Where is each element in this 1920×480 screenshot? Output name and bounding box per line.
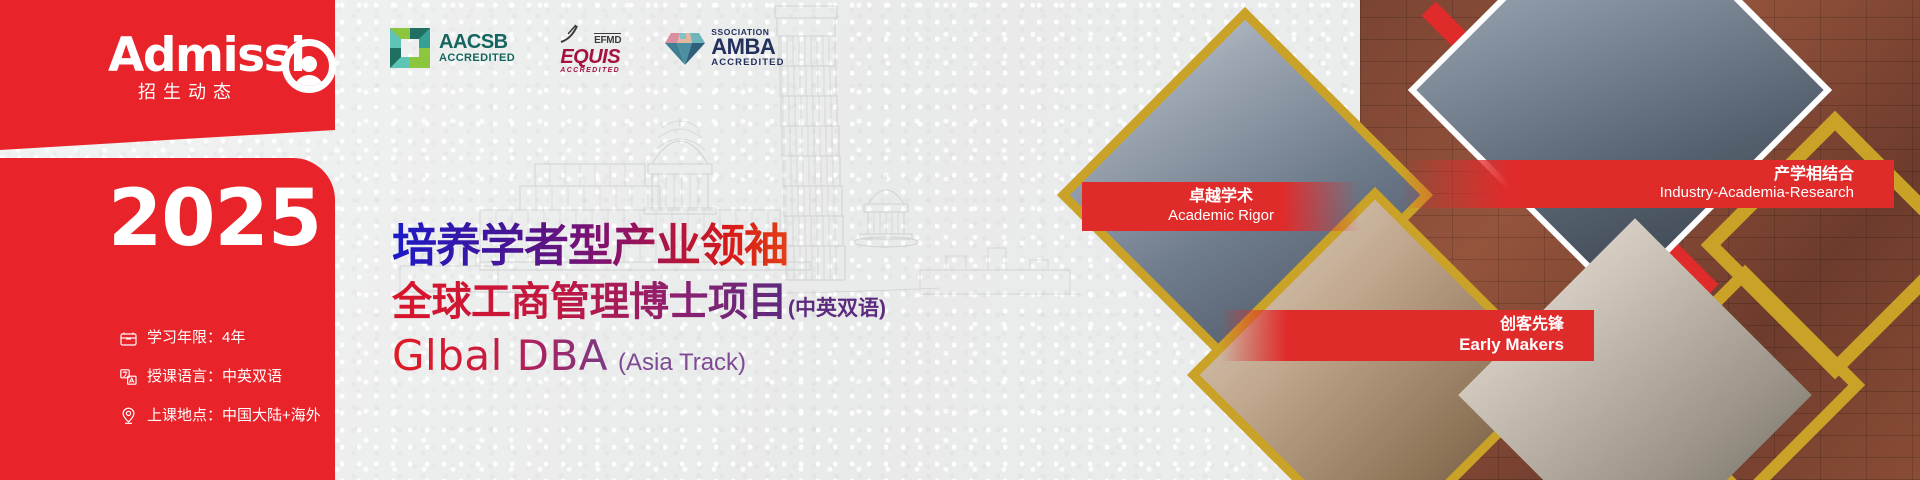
headline-line-1: 培养学者型产业领袖 [392,222,1092,269]
program-info-list: 学习年限：4年 授课语言：中英双语 [118,328,348,445]
badge-academic-rigor: 卓越学术 Academic Rigor [1082,182,1360,231]
photo-collage: 卓越学术 Academic Rigor 产学相结合 Industry-Acade… [1040,0,1920,480]
amba-diamond-icon [665,29,705,67]
badge-early-makers-cn: 创客先锋 [1234,316,1564,335]
headline-block: 培养学者型产业领袖 全球工商管理博士项目 (中英双语) Glbal DBA (A… [392,222,1092,377]
badge-early-makers-en: Early Makers [1234,335,1564,355]
headline-line-2-paren: (中英双语) [788,292,886,322]
language-icon [118,367,138,387]
aacsb-accreditation: AACSB ACCREDITED [388,26,515,70]
headline-line-3-sub: (Asia Track) [618,349,746,377]
amba-sub: ACCREDITED [711,58,784,68]
amba-name: AMBA [711,37,784,58]
info-row-duration: 学习年限：4年 [118,328,348,348]
equis-name: EQUIS [560,47,620,67]
equis-accreditation: EFMD EQUIS ACCREDITED [559,22,621,74]
aacsb-name: AACSB [439,32,515,52]
aacsb-logo-icon [388,26,432,70]
badge-industry-academia-cn: 产学相结合 [1414,166,1854,184]
equis-swoosh-icon [559,22,589,46]
badge-industry-academia-en: Industry-Academia-Research [1414,184,1854,201]
admission-banner: Admissi 招生动态 2025 学习年限：4年 [0,0,1920,480]
aacsb-sub: ACCREDITED [439,53,515,64]
headline-line-3: Glbal DBA (Asia Track) [392,335,1092,377]
admission-logo-chinese: 招生动态 [138,78,238,104]
info-label-duration: 学习年限：4年 [147,328,245,348]
person-circle-icon [282,39,336,93]
badge-academic-rigor-cn: 卓越学术 [1096,188,1346,207]
headline-line-2-main: 全球工商管理博士项目 [392,281,787,323]
efmd-label: EFMD [594,33,621,46]
info-label-location: 上课地点：中国大陆+海外 [147,406,321,426]
left-red-panel: Admissi 招生动态 2025 学习年限：4年 [0,0,335,480]
year-label: 2025 [108,180,338,258]
headline-line-3-main: Glbal DBA [392,335,608,377]
calendar-icon [118,328,138,348]
badge-industry-academia: 产学相结合 Industry-Academia-Research [1400,160,1894,208]
location-pin-icon [118,406,138,426]
equis-sub: ACCREDITED [560,67,620,74]
badge-early-makers: 创客先锋 Early Makers [1220,310,1594,361]
info-row-language: 授课语言：中英双语 [118,367,348,387]
accreditation-logos: AACSB ACCREDITED EFMD EQUIS ACCREDITED [388,22,785,74]
amba-accreditation: SSOCIATION AMBA ACCREDITED [665,28,784,68]
admission-logo-word: Admissi [108,32,305,79]
info-row-location: 上课地点：中国大陆+海外 [118,406,348,426]
headline-line-2: 全球工商管理博士项目 (中英双语) [392,281,1092,323]
admission-logo: Admissi 招生动态 [108,32,338,112]
info-label-language: 授课语言：中英双语 [147,367,282,387]
badge-academic-rigor-en: Academic Rigor [1096,207,1346,225]
